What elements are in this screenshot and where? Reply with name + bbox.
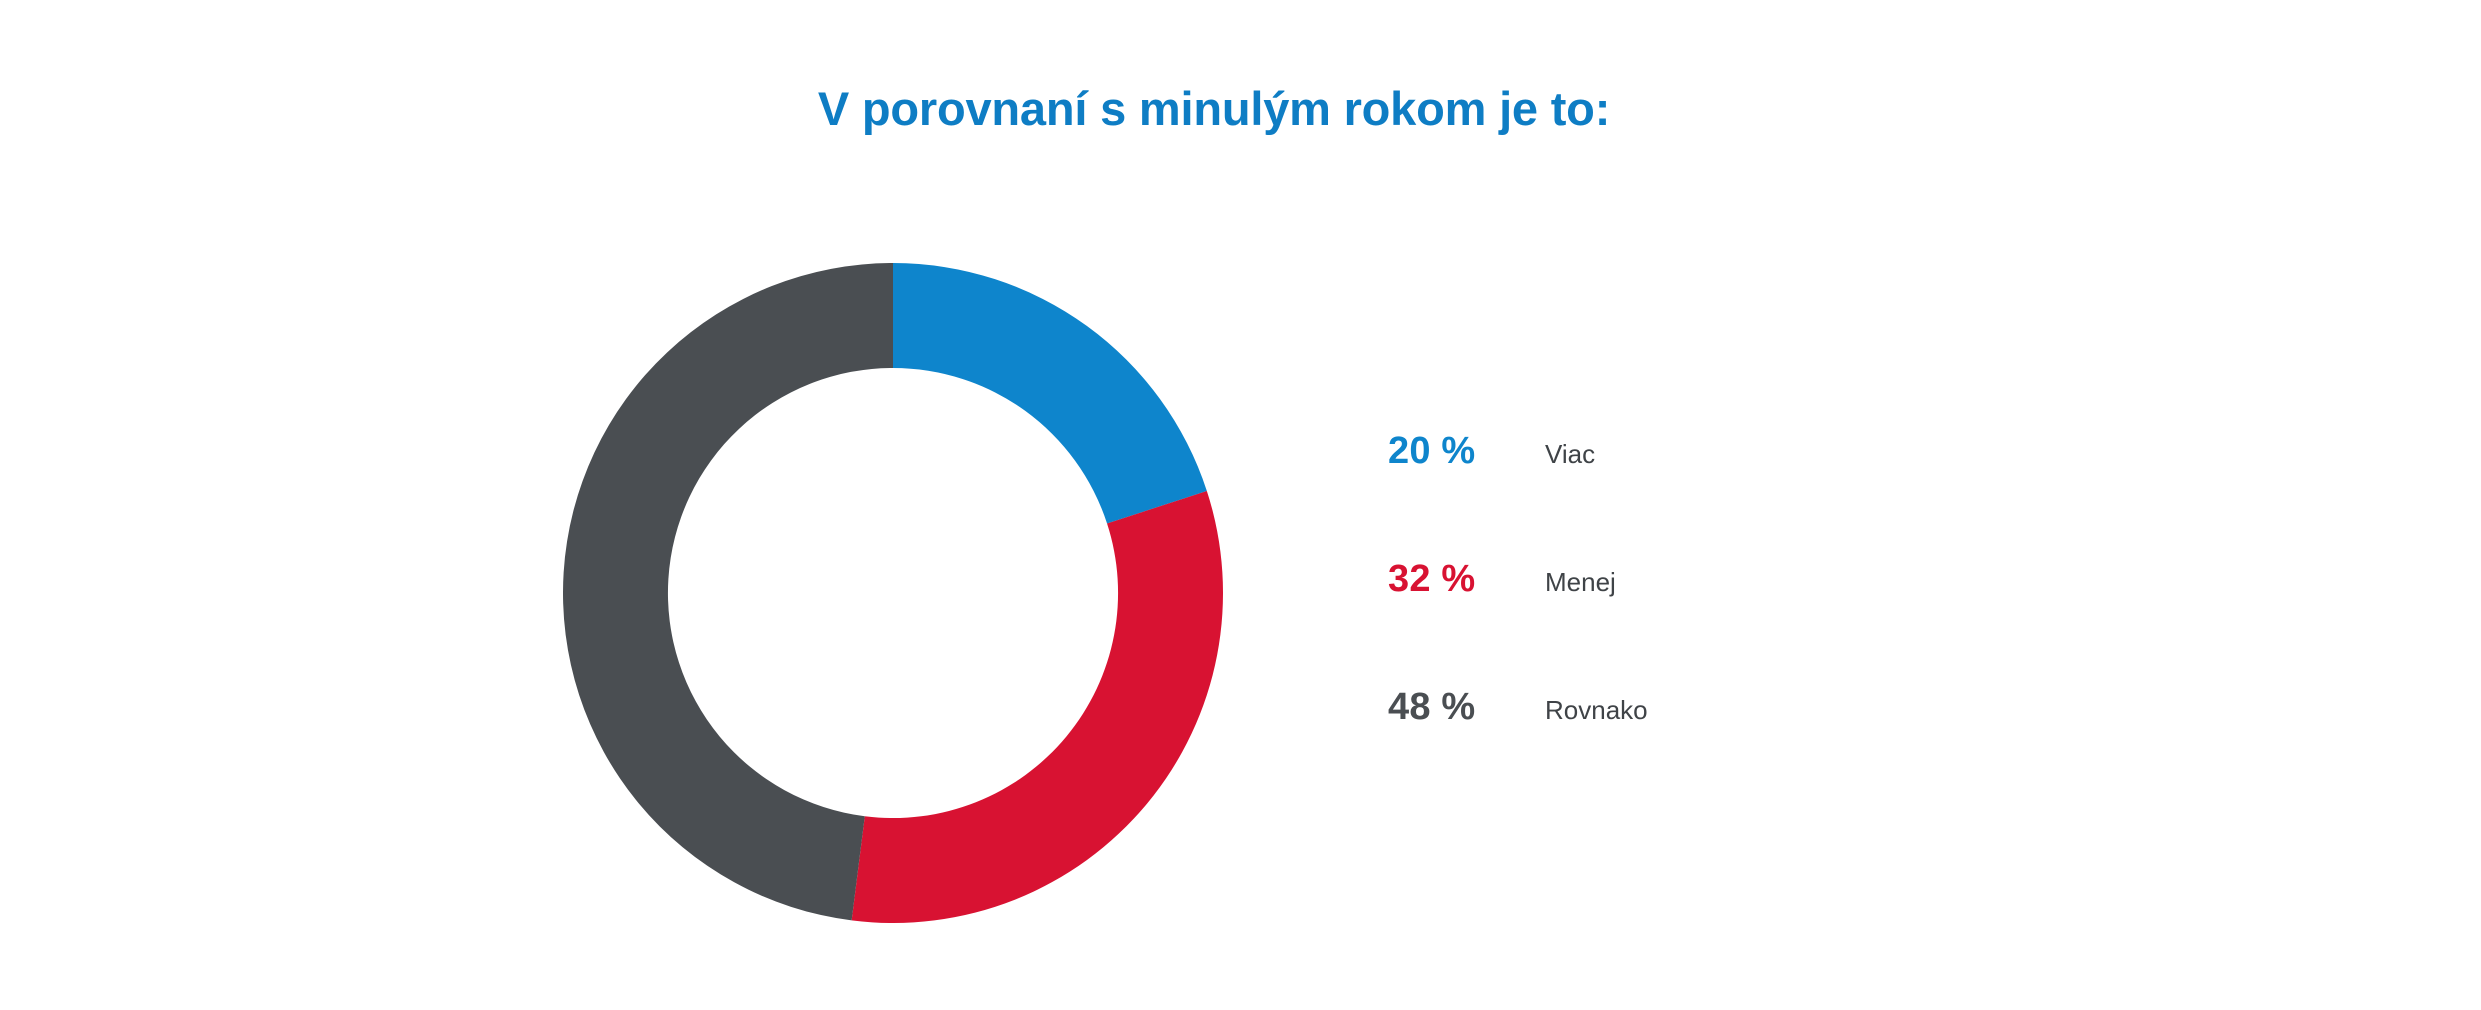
donut-slice-menej[interactable] — [852, 491, 1223, 923]
legend-label: Menej — [1545, 569, 1616, 595]
page-title-container: V porovnaní s minulým rokom je to: — [714, 83, 1714, 135]
donut-slice-rovnako[interactable] — [563, 263, 893, 920]
legend-percent: 48 % — [1388, 688, 1475, 726]
chart-page: V porovnaní s minulým rokom je to: 20 %V… — [0, 0, 2481, 1010]
chart-legend: 20 %Viac32 %Menej48 %Rovnako — [1388, 432, 2008, 816]
donut-slice-viac[interactable] — [893, 263, 1207, 523]
legend-percent: 32 % — [1388, 560, 1475, 598]
legend-percent: 20 % — [1388, 432, 1475, 470]
donut-chart-svg — [563, 263, 1223, 923]
donut-chart — [563, 263, 1223, 923]
legend-label: Rovnako — [1545, 697, 1648, 723]
legend-item-menej[interactable]: 32 %Menej — [1388, 560, 2008, 688]
page-title: V porovnaní s minulým rokom je to: — [714, 83, 1714, 135]
legend-item-rovnako[interactable]: 48 %Rovnako — [1388, 688, 2008, 816]
donut-slice-group — [563, 263, 1223, 923]
legend-item-viac[interactable]: 20 %Viac — [1388, 432, 2008, 560]
legend-label: Viac — [1545, 441, 1595, 467]
